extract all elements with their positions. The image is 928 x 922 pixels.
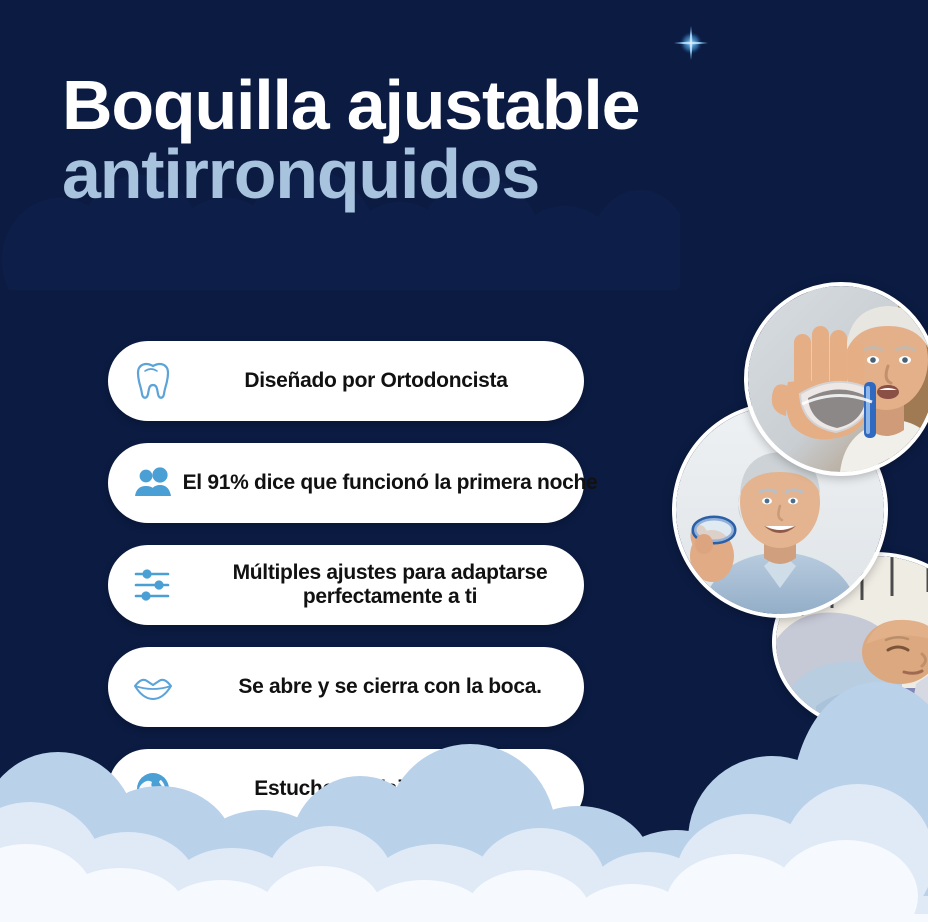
feature-card-multiple-adjustments[interactable]: Múltiples ajustes para adaptarse perfect…	[108, 545, 584, 625]
headline-line-1: Boquilla ajustable	[62, 73, 762, 137]
photo-man-holding-mouthpiece	[744, 282, 928, 476]
globe-icon	[132, 768, 174, 810]
headline-line-2: antirronquidos	[62, 142, 762, 206]
feature-label: Diseñado por Ortodoncista	[182, 369, 570, 393]
cloud-layer-front	[0, 840, 928, 922]
feature-list: Diseñado por Ortodoncista El 91% dice qu…	[108, 341, 584, 851]
feature-label: Estuche de viaje incluido	[182, 777, 570, 801]
feature-card-orthodontist[interactable]: Diseñado por Ortodoncista	[108, 341, 584, 421]
feature-card-works-first-night[interactable]: El 91% dice que funcionó la primera noch…	[108, 443, 584, 523]
feature-label: Múltiples ajustes para adaptarse perfect…	[166, 561, 614, 608]
feature-label: Se abre y se cierra con la boca.	[166, 675, 614, 699]
feature-label: El 91% dice que funcionó la primera noch…	[166, 471, 614, 495]
tooth-icon	[132, 360, 174, 402]
sparkle-star-icon	[672, 24, 710, 62]
page-title: Boquilla ajustable antirronquidos	[62, 73, 762, 206]
promo-banner: Boquilla ajustable antirronquidos	[0, 0, 928, 922]
feature-card-opens-and-closes[interactable]: Se abre y se cierra con la boca.	[108, 647, 584, 727]
feature-card-travel-case[interactable]: Estuche de viaje incluido	[108, 749, 584, 829]
